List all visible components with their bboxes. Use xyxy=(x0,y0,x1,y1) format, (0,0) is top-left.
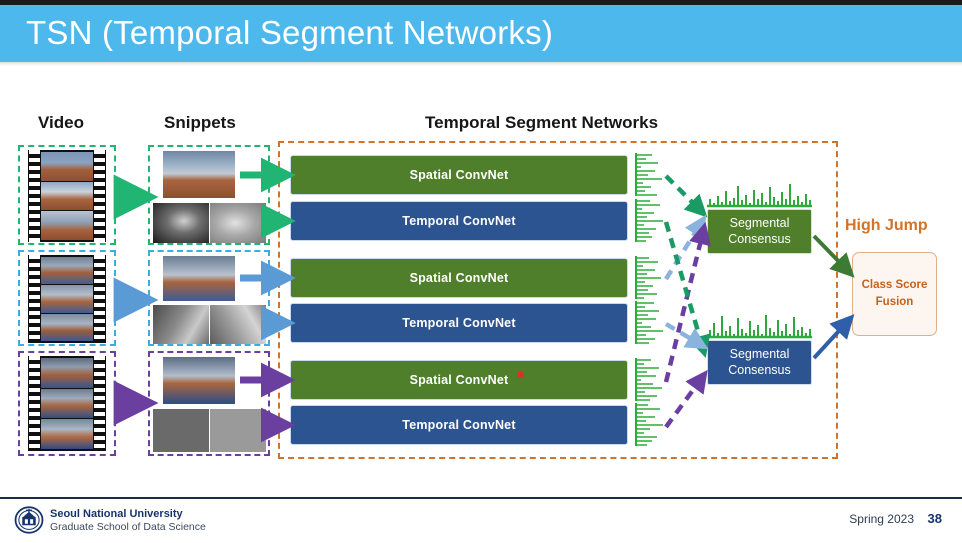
column-header-video: Video xyxy=(38,113,84,133)
footer-university-name: Seoul National University xyxy=(50,508,183,520)
column-header-snippets: Snippets xyxy=(164,113,236,133)
spatial-convnet-2[interactable]: Spatial ConvNet xyxy=(290,258,628,298)
column-header-networks: Temporal Segment Networks xyxy=(425,113,658,133)
film-frame xyxy=(41,285,93,312)
temporal-convnet-3[interactable]: Temporal ConvNet xyxy=(290,405,628,445)
snippet-flow-1a xyxy=(153,203,209,243)
footer-divider xyxy=(0,497,962,499)
page-title: TSN (Temporal Segment Networks) xyxy=(26,14,553,52)
footer-school-name: Graduate School of Data Science xyxy=(50,521,206,533)
film-frame xyxy=(41,152,93,181)
spatial-convnet-1[interactable]: Spatial ConvNet xyxy=(290,155,628,195)
film-frame xyxy=(41,257,93,284)
film-sprocket-right-icon xyxy=(94,356,105,451)
film-sprocket-left-icon xyxy=(29,150,40,242)
segmental-consensus-spatial[interactable]: Segmental Consensus xyxy=(707,209,812,254)
consensus-line-2: Consensus xyxy=(728,363,791,379)
banner-shadow xyxy=(0,62,962,66)
film-frame xyxy=(41,389,93,419)
film-frame xyxy=(41,182,93,211)
video-filmstrip-2 xyxy=(28,255,106,343)
title-banner: TSN (Temporal Segment Networks) xyxy=(0,5,962,62)
cursor-dot-icon xyxy=(517,371,524,378)
fusion-line-1: Class Score xyxy=(862,277,928,294)
spatial-convnet-3[interactable]: Spatial ConvNet xyxy=(290,360,628,400)
footer-term: Spring 2023 xyxy=(849,512,914,526)
class-score-fusion-box[interactable]: Class Score Fusion xyxy=(852,252,937,336)
video-filmstrip-1 xyxy=(28,150,106,242)
snippet-flow-3b xyxy=(210,409,266,452)
snippet-flow-3a xyxy=(153,409,209,452)
film-sprocket-left-icon xyxy=(29,356,40,451)
snu-logo-icon xyxy=(14,505,44,535)
video-filmstrip-3 xyxy=(28,356,106,451)
fusion-line-2: Fusion xyxy=(876,294,914,311)
prediction-label: High Jump xyxy=(845,217,928,235)
film-frame xyxy=(41,211,93,240)
consensus-line-1: Segmental xyxy=(730,216,790,232)
temporal-convnet-1[interactable]: Temporal ConvNet xyxy=(290,201,628,241)
snippet-rgb-1 xyxy=(163,151,235,198)
film-frame xyxy=(41,419,93,449)
film-frame xyxy=(41,314,93,341)
consensus-line-2: Consensus xyxy=(728,232,791,248)
footer-page-number: 38 xyxy=(928,511,942,526)
consensus-line-1: Segmental xyxy=(730,347,790,363)
film-frame xyxy=(41,358,93,388)
snippet-rgb-2 xyxy=(163,256,235,301)
segmental-consensus-temporal[interactable]: Segmental Consensus xyxy=(707,340,812,385)
slide-canvas: TSN (Temporal Segment Networks) Video Sn… xyxy=(0,0,962,543)
snippet-rgb-3 xyxy=(163,357,235,404)
temporal-convnet-2[interactable]: Temporal ConvNet xyxy=(290,303,628,343)
film-sprocket-left-icon xyxy=(29,255,40,343)
snippet-flow-2b xyxy=(210,305,266,344)
film-sprocket-right-icon xyxy=(94,255,105,343)
snippet-flow-2a xyxy=(153,305,209,344)
snippet-flow-1b xyxy=(210,203,266,243)
film-sprocket-right-icon xyxy=(94,150,105,242)
